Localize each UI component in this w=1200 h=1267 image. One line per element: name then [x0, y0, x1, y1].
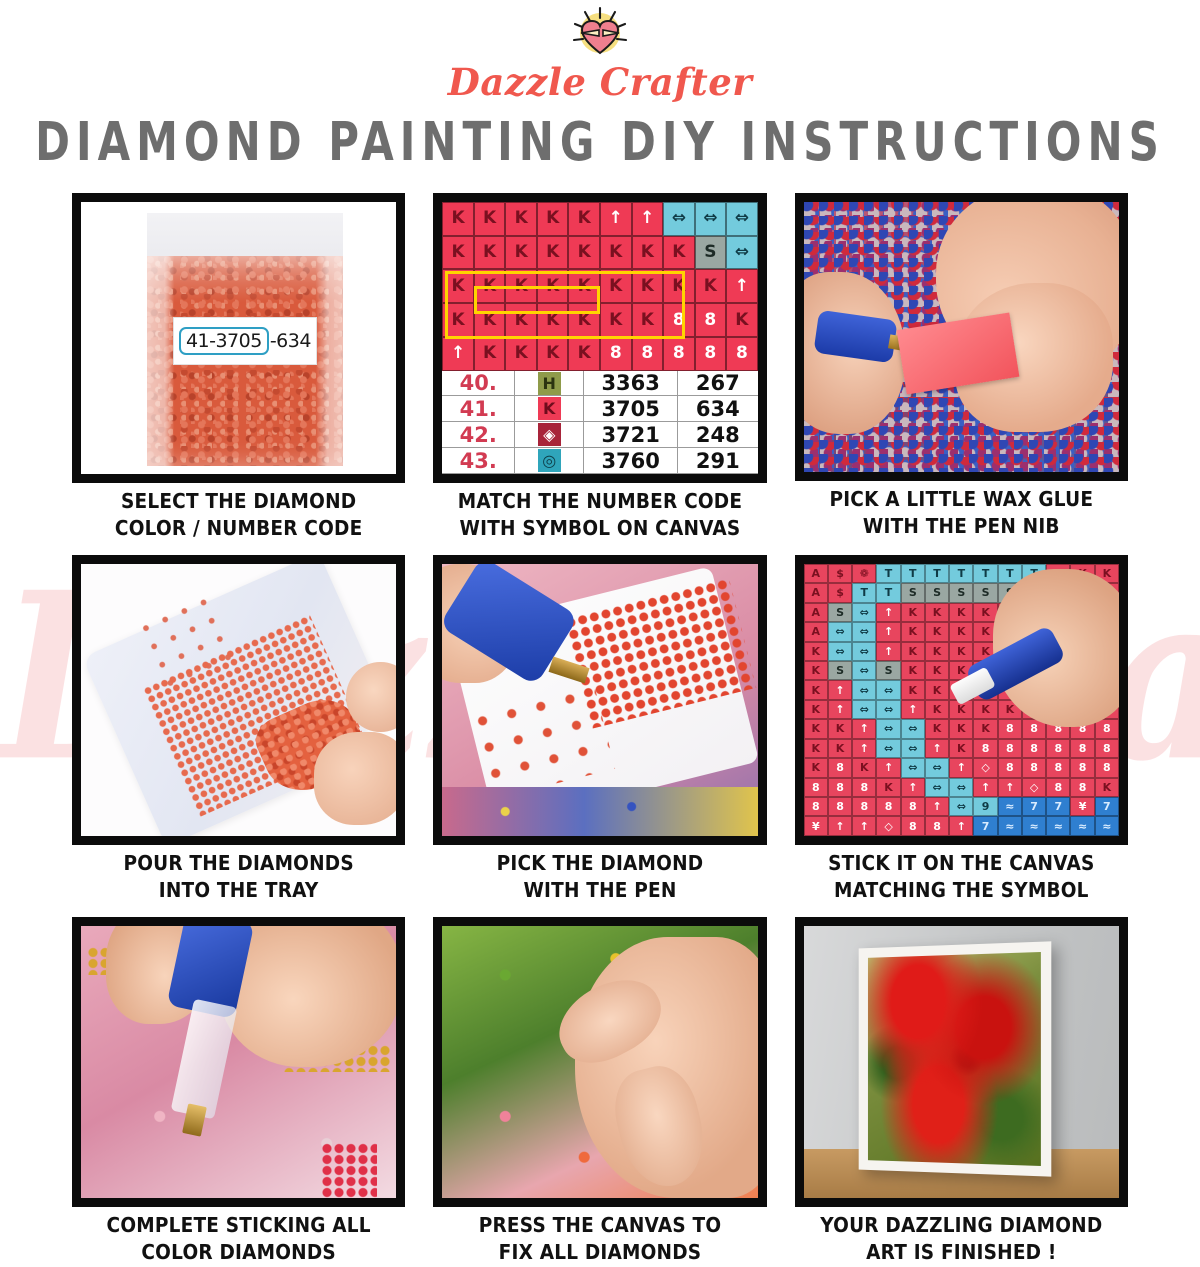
canvas-cell: ⇔: [663, 202, 695, 236]
canvas-cell: 9: [973, 797, 997, 816]
canvas-cell: K: [901, 642, 925, 661]
canvas-cell: K: [949, 622, 973, 641]
canvas-cell: K: [901, 622, 925, 641]
canvas-cell: 8: [804, 797, 828, 816]
canvas-cell: K: [925, 661, 949, 680]
canvas-cell: 8: [876, 797, 900, 816]
canvas-cell: T: [925, 564, 949, 583]
canvas-cell: 7: [1095, 797, 1119, 816]
heart-with-pen-sunburst-icon: [569, 6, 631, 64]
legend-symbol: K: [538, 397, 561, 420]
canvas-cell: K: [949, 739, 973, 758]
canvas-cell: $: [828, 564, 852, 583]
canvas-cell: ↑: [828, 700, 852, 719]
canvas-cell: T: [973, 564, 997, 583]
canvas-cell: ❁: [852, 564, 876, 583]
canvas-cell: T: [876, 564, 900, 583]
step-7-caption: COMPLETE STICKING ALL COLOR DIAMONDS: [107, 1213, 371, 1267]
step-3-caption: PICK A LITTLE WAX GLUE WITH THE PEN NIB: [829, 487, 1093, 542]
step-9-caption: YOUR DAZZLING DIAMOND ART IS FINISHED !: [820, 1213, 1102, 1267]
canvas-cell: S: [973, 583, 997, 602]
white-picture-frame: [859, 941, 1051, 1177]
canvas-cell: K: [804, 700, 828, 719]
canvas-chart-and-legend-photo: KKKKK↑↑⇔⇔⇔KKKKKKKKS⇔KKKKKKKKK↑KKKKKKK88K…: [433, 193, 766, 483]
caption-line-1: YOUR DAZZLING DIAMOND: [820, 1213, 1102, 1240]
canvas-cell: 8: [695, 337, 727, 371]
legend-dmc-code: 3705: [584, 396, 678, 421]
legend-symbol-cell: ◈: [515, 422, 584, 447]
canvas-cell: K: [1095, 778, 1119, 797]
legend-number: 43.: [442, 448, 515, 473]
caption-line-1: STICK IT ON THE CANVAS: [828, 851, 1094, 878]
red-diamond-cluster: [321, 1143, 378, 1197]
canvas-cell: S: [925, 583, 949, 602]
legend-count: 634: [678, 396, 758, 421]
canvas-cell: ↑: [442, 337, 474, 371]
pick-diamond-pen-photo: [433, 555, 766, 845]
canvas-cell: S: [949, 583, 973, 602]
legend-symbol: H: [538, 372, 561, 395]
canvas-cell: 8: [1095, 719, 1119, 738]
canvas-cell: 8: [1022, 758, 1046, 777]
canvas-cell: ↑: [949, 758, 973, 777]
canvas-cell: ⇔: [852, 603, 876, 622]
canvas-cell: ⇔: [949, 778, 973, 797]
canvas-cell: A: [804, 622, 828, 641]
legend-count: 291: [678, 448, 758, 473]
canvas-cell: K: [600, 236, 632, 270]
step-9: YOUR DAZZLING DIAMOND ART IS FINISHED !: [795, 917, 1128, 1265]
canvas-cell: K: [949, 603, 973, 622]
canvas-cell: A: [804, 583, 828, 602]
legend-dmc-code: 3760: [584, 448, 678, 473]
canvas-cell: ↑: [852, 719, 876, 738]
canvas-cell: K: [663, 236, 695, 270]
canvas-cell: S: [828, 603, 852, 622]
canvas-cell: K: [852, 758, 876, 777]
canvas-cell: 8: [1070, 778, 1094, 797]
step-6: A$❁TTTTTTT↑KKA$TTSSSSS⇔⇔SKAS⇔↑KKKK↑⇔⇔KKA…: [795, 555, 1128, 903]
legend-symbol: ◎: [538, 449, 561, 472]
legend-symbol-cell: ◎: [515, 448, 584, 473]
legend-dmc-code: 3721: [584, 422, 678, 447]
legend-number: 42.: [442, 422, 515, 447]
legend-number: 40.: [442, 371, 515, 396]
wax-glue-pickup-photo: [795, 193, 1128, 481]
canvas-cell: K: [901, 661, 925, 680]
step-5: PICK THE DIAMOND WITH THE PEN: [433, 555, 766, 903]
caption-line-1: POUR THE DIAMONDS: [123, 851, 353, 878]
canvas-cell: K: [474, 236, 506, 270]
step-2-caption: MATCH THE NUMBER CODE WITH SYMBOL ON CAN…: [458, 489, 742, 544]
canvas-cell: K: [804, 642, 828, 661]
step-8-caption: PRESS THE CANVAS TO FIX ALL DIAMONDS: [479, 1213, 722, 1267]
canvas-cell: ↑: [726, 269, 758, 303]
canvas-cell: K: [695, 269, 727, 303]
canvas-cell: ↑: [925, 797, 949, 816]
caption-line-1: PRESS THE CANVAS TO: [479, 1213, 722, 1240]
canvas-cell: ⇔: [901, 758, 925, 777]
canvas-cell: 8: [901, 797, 925, 816]
canvas-cell: ⇔: [876, 719, 900, 738]
canvas-cell: K: [474, 202, 506, 236]
canvas-cell: ≈: [1070, 816, 1094, 835]
suffix-code: -634: [270, 330, 311, 352]
canvas-cell: A: [804, 603, 828, 622]
canvas-cell: ↑: [901, 700, 925, 719]
canvas-cell: 8: [998, 719, 1022, 738]
canvas-cell: ⇔: [852, 642, 876, 661]
step-2: KKKKK↑↑⇔⇔⇔KKKKKKKKS⇔KKKKKKKKK↑KKKKKKK88K…: [433, 193, 766, 541]
caption-line-2: WITH THE PEN NIB: [829, 514, 1093, 541]
canvas-cell: 8: [901, 816, 925, 835]
caption-line-1: COMPLETE STICKING ALL: [107, 1213, 371, 1240]
canvas-cell: K: [804, 680, 828, 699]
canvas-cell: $: [828, 583, 852, 602]
canvas-cell: ⇔: [852, 661, 876, 680]
canvas-cell: 8: [1046, 758, 1070, 777]
canvas-cell: ⇔: [901, 719, 925, 738]
canvas-cell: T: [876, 583, 900, 602]
caption-line-2: WITH SYMBOL ON CANVAS: [458, 516, 742, 543]
step-1-caption: SELECT THE DIAMOND COLOR / NUMBER CODE: [115, 489, 362, 544]
canvas-cell: K: [828, 739, 852, 758]
canvas-cell: ⇔: [852, 700, 876, 719]
canvas-cell: ↑: [876, 603, 900, 622]
canvas-cell: K: [925, 642, 949, 661]
step-1: 41-3705-634 SELECT THE DIAMOND COLOR / N…: [72, 193, 405, 541]
canvas-cell: ⇔: [726, 236, 758, 270]
legend-count: 267: [678, 371, 758, 396]
canvas-cell: K: [442, 236, 474, 270]
canvas-cell: K: [505, 337, 537, 371]
finished-framed-art-photo: [795, 917, 1128, 1207]
caption-line-1: MATCH THE NUMBER CODE: [458, 489, 742, 516]
canvas-cell: 8: [600, 337, 632, 371]
canvas-cell: 8: [1070, 758, 1094, 777]
logo-wrap: [0, 6, 1200, 64]
canvas-cell: ⇔: [852, 680, 876, 699]
canvas-cell: ↑: [876, 622, 900, 641]
canvas-cell: ↑: [600, 202, 632, 236]
canvas-cell: K: [726, 303, 758, 337]
caption-line-2: COLOR DIAMONDS: [107, 1240, 371, 1267]
canvas-cell: 8: [632, 337, 664, 371]
canvas-cell: K: [474, 337, 506, 371]
canvas-cell: K: [973, 700, 997, 719]
canvas-cell: ≈: [1022, 816, 1046, 835]
canvas-cell: ↑: [632, 202, 664, 236]
step-8: PRESS THE CANVAS TO FIX ALL DIAMONDS: [433, 917, 766, 1265]
canvas-cell: ≈: [1046, 816, 1070, 835]
canvas-cell: K: [442, 202, 474, 236]
canvas-cell: 8: [828, 778, 852, 797]
canvas-cell: ⇔: [695, 202, 727, 236]
caption-line-2: FIX ALL DIAMONDS: [479, 1240, 722, 1267]
canvas-cell: K: [804, 661, 828, 680]
canvas-cell: ⇔: [828, 622, 852, 641]
canvas-cell: ⇔: [876, 739, 900, 758]
canvas-cell: T: [852, 583, 876, 602]
canvas-cell: ⇔: [949, 797, 973, 816]
canvas-cell: ↑: [925, 739, 949, 758]
canvas-cell: ≈: [998, 797, 1022, 816]
canvas-cell: S: [695, 236, 727, 270]
page-title: DIAMOND PAINTING DIY INSTRUCTIONS: [0, 110, 1200, 173]
caption-line-2: MATCHING THE SYMBOL: [828, 878, 1094, 905]
caption-line-1: PICK THE DIAMOND: [497, 851, 704, 878]
canvas-cell: ↑: [901, 778, 925, 797]
canvas-cell: K: [828, 719, 852, 738]
header: Dazzle Crafter DIAMOND PAINTING DIY INST…: [0, 0, 1200, 159]
diamond-bag-photo: 41-3705-634: [72, 193, 405, 483]
canvas-cell: ◇: [876, 816, 900, 835]
canvas-cell: 8: [1022, 739, 1046, 758]
canvas-cell: 8: [998, 758, 1022, 777]
caption-line-1: PICK A LITTLE WAX GLUE: [829, 487, 1093, 514]
canvas-cell: K: [537, 337, 569, 371]
canvas-cell: K: [901, 603, 925, 622]
canvas-cell: K: [901, 680, 925, 699]
canvas-cell: ↑: [949, 816, 973, 835]
canvas-cell: K: [804, 758, 828, 777]
canvas-cell: K: [925, 719, 949, 738]
legend-dmc-code: 3363: [584, 371, 678, 396]
canvas-cell: 8: [973, 739, 997, 758]
diamond-bag: 41-3705-634: [147, 213, 343, 466]
press-canvas-photo: [433, 917, 766, 1207]
canvas-cell: ≈: [998, 816, 1022, 835]
canvas-cell: 8: [663, 337, 695, 371]
legend-symbol-cell: H: [515, 371, 584, 396]
canvas-cell: K: [973, 719, 997, 738]
legend-row: 43.◎3760291: [442, 448, 757, 474]
canvas-cell: A: [804, 564, 828, 583]
highlighted-code: 41-3705: [179, 327, 269, 355]
canvas-cell: 8: [1046, 739, 1070, 758]
canvas-cell: ⇔: [876, 700, 900, 719]
canvas-cell: K: [568, 236, 600, 270]
canvas-cell: 8: [1070, 739, 1094, 758]
canvas-cell: ¥: [1070, 797, 1094, 816]
canvas-cell: K: [632, 236, 664, 270]
canvas-cell: ◇: [973, 758, 997, 777]
holding-finger-lower: [314, 732, 396, 824]
canvas-cell: K: [925, 680, 949, 699]
canvas-cell: K: [568, 337, 600, 371]
caption-line-1: SELECT THE DIAMOND: [115, 489, 362, 516]
canvas-cell: ⇔: [925, 778, 949, 797]
steps-grid: 41-3705-634 SELECT THE DIAMOND COLOR / N…: [0, 193, 1200, 1264]
canvas-cell: K: [804, 719, 828, 738]
highlight-legend-row-box: [445, 271, 685, 339]
canvas-cell: ↑: [998, 778, 1022, 797]
canvas-cell: S: [901, 583, 925, 602]
color-legend-table: 40.H336326741.K370563442.◈372124843.◎376…: [442, 371, 757, 474]
step-5-caption: PICK THE DIAMOND WITH THE PEN: [497, 851, 704, 906]
canvas-cell: K: [804, 739, 828, 758]
canvas-cell: ↑: [852, 739, 876, 758]
canvas-cell: K: [925, 603, 949, 622]
bag-label: 41-3705-634: [173, 317, 318, 365]
canvas-cell: K: [949, 719, 973, 738]
legend-symbol-cell: K: [515, 396, 584, 421]
step-6-caption: STICK IT ON THE CANVAS MATCHING THE SYMB…: [828, 851, 1094, 906]
canvas-cell: S: [876, 661, 900, 680]
step-7: COMPLETE STICKING ALL COLOR DIAMONDS: [72, 917, 405, 1265]
canvas-cell: S: [828, 661, 852, 680]
canvas-cell: 8: [804, 778, 828, 797]
canvas-cell: K: [505, 236, 537, 270]
canvas-cell: 7: [973, 816, 997, 835]
canvas-cell: 8: [852, 778, 876, 797]
canvas-cell: ↑: [876, 758, 900, 777]
red-poppy-artwork: [868, 952, 1040, 1166]
step-3: PICK A LITTLE WAX GLUE WITH THE PEN NIB: [795, 193, 1128, 541]
canvas-cell: T: [949, 564, 973, 583]
legend-row: 41.K3705634: [442, 396, 757, 422]
pour-diamonds-tray-photo: [72, 555, 405, 845]
canvas-cell: ⇔: [726, 202, 758, 236]
canvas-cell: 7: [1046, 797, 1070, 816]
brand-name: Dazzle Crafter: [0, 60, 1200, 104]
canvas-cell: 8: [1046, 778, 1070, 797]
legend-count: 248: [678, 422, 758, 447]
canvas-cell: K: [505, 202, 537, 236]
caption-line-2: COLOR / NUMBER CODE: [115, 516, 362, 543]
canvas-cell: K: [949, 642, 973, 661]
stick-on-canvas-photo: A$❁TTTTTTT↑KKA$TTSSSSS⇔⇔SKAS⇔↑KKKK↑⇔⇔KKA…: [795, 555, 1128, 845]
canvas-cell: K: [568, 202, 600, 236]
canvas-cell: ≈: [1095, 816, 1119, 835]
canvas-cell: ↑: [828, 816, 852, 835]
complete-sticking-photo: [72, 917, 405, 1207]
caption-line-2: INTO THE TRAY: [123, 878, 353, 905]
canvas-cell: 8: [1095, 739, 1119, 758]
canvas-cell: ¥: [804, 816, 828, 835]
canvas-cell: 8: [726, 337, 758, 371]
canvas-cell: ⇔: [876, 680, 900, 699]
canvas-cell: K: [925, 700, 949, 719]
legend-symbol: ◈: [538, 423, 561, 446]
canvas-cell: 8: [1095, 758, 1119, 777]
canvas-edge: [442, 787, 757, 836]
canvas-cell: ↑: [876, 642, 900, 661]
legend-row: 42.◈3721248: [442, 422, 757, 448]
canvas-cell: ↑: [828, 680, 852, 699]
canvas-cell: 8: [828, 797, 852, 816]
canvas-cell: 7: [1022, 797, 1046, 816]
canvas-cell: ◇: [1022, 778, 1046, 797]
caption-line-2: WITH THE PEN: [497, 878, 704, 905]
canvas-cell: 8: [852, 797, 876, 816]
canvas-cell: 8: [828, 758, 852, 777]
step-4-caption: POUR THE DIAMONDS INTO THE TRAY: [123, 851, 353, 906]
legend-row: 40.H3363267: [442, 371, 757, 397]
canvas-cell: K: [537, 236, 569, 270]
canvas-cell: 8: [695, 303, 727, 337]
canvas-cell: ⇔: [828, 642, 852, 661]
canvas-cell: K: [925, 622, 949, 641]
step-4: POUR THE DIAMONDS INTO THE TRAY: [72, 555, 405, 903]
canvas-cell: ⇔: [852, 622, 876, 641]
canvas-cell: ⇔: [925, 758, 949, 777]
canvas-cell: T: [901, 564, 925, 583]
canvas-cell: 8: [925, 816, 949, 835]
canvas-cell: 8: [998, 739, 1022, 758]
legend-number: 41.: [442, 396, 515, 421]
canvas-cell: ↑: [973, 778, 997, 797]
canvas-cell: ⇔: [901, 739, 925, 758]
canvas-cell: ↑: [852, 816, 876, 835]
canvas-cell: K: [876, 778, 900, 797]
caption-line-2: ART IS FINISHED !: [820, 1240, 1102, 1267]
canvas-cell: K: [537, 202, 569, 236]
canvas-chart: KKKKK↑↑⇔⇔⇔KKKKKKKKS⇔KKKKKKKKK↑KKKKKKK88K…: [442, 202, 757, 474]
